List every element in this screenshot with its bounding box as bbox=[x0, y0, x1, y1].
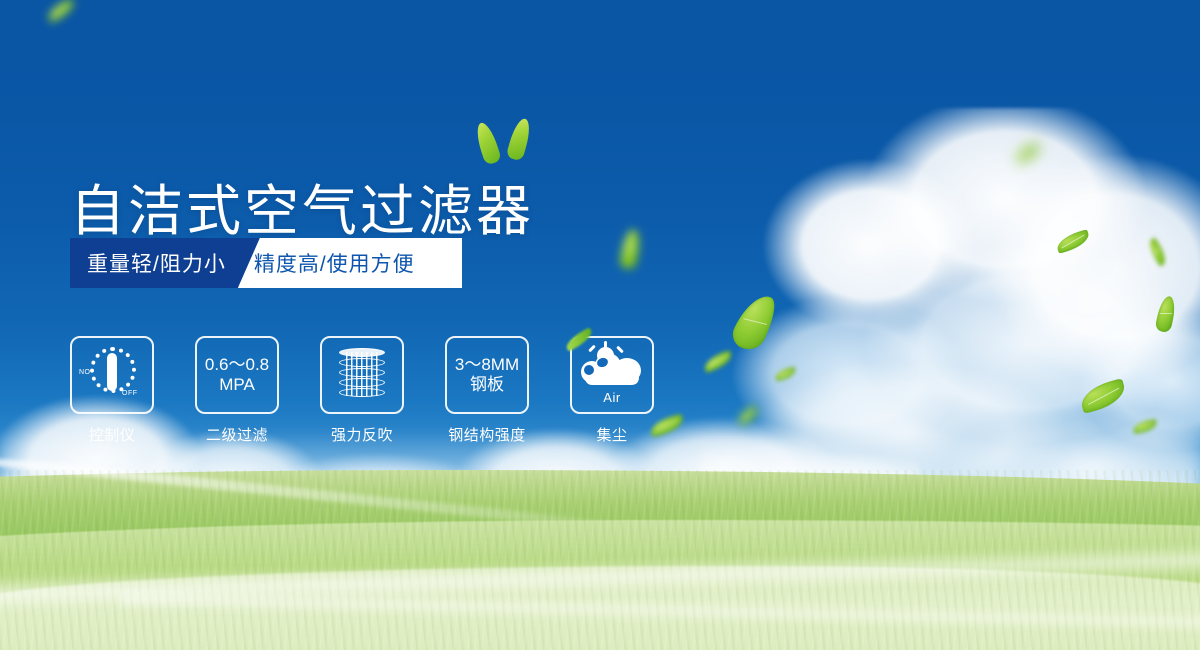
page-title: 自洁式空气过滤器 bbox=[70, 178, 534, 244]
feature-label: 强力反吹 bbox=[331, 424, 393, 445]
air-label: Air bbox=[603, 390, 620, 405]
control-dial-icon: NO OFF bbox=[80, 345, 144, 405]
dial-on-label: NO bbox=[79, 369, 91, 376]
feature-box: 0.6～0.8 MPA bbox=[195, 336, 279, 414]
cloud-air-icon bbox=[581, 345, 643, 389]
feature-box: NO OFF bbox=[70, 336, 154, 414]
hero-banner: 自洁式空气过滤器 重量轻/阻力小 精度高/使用方便 NO OFF 控制仪 0.6… bbox=[0, 0, 1200, 650]
feature-label: 钢结构强度 bbox=[448, 424, 526, 445]
cartridge-ring bbox=[339, 368, 385, 377]
sun-ray-icon bbox=[616, 346, 624, 354]
cartridge-ring bbox=[339, 378, 385, 387]
sprout-leaf-left-icon bbox=[473, 120, 502, 165]
feature-label: 集尘 bbox=[596, 424, 627, 445]
feature-label: 二级过滤 bbox=[206, 424, 268, 445]
subtitle-bar: 重量轻/阻力小 精度高/使用方便 bbox=[70, 238, 462, 288]
steel-thickness-value: 3～8MM bbox=[455, 355, 519, 375]
cartridge-ring bbox=[339, 358, 385, 367]
feature-box: Air bbox=[570, 336, 654, 414]
steel-material-value: 钢板 bbox=[470, 375, 504, 395]
dial-off-label: OFF bbox=[122, 390, 138, 397]
cartridge-ring bbox=[339, 388, 385, 397]
subtitle-left-tag: 重量轻/阻力小 bbox=[70, 238, 260, 288]
sun-ray-icon bbox=[588, 345, 596, 353]
cloud-gap bbox=[584, 365, 594, 375]
sprout-leaf-right-icon bbox=[506, 116, 534, 161]
cloud-base bbox=[585, 371, 639, 385]
feature-item-control-instrument[interactable]: NO OFF 控制仪 bbox=[70, 336, 154, 445]
pressure-unit-value: MPA bbox=[219, 375, 255, 395]
feature-item-steel-strength[interactable]: 3～8MM 钢板 钢结构强度 bbox=[445, 336, 529, 445]
filter-cartridge-icon bbox=[339, 348, 385, 402]
subtitle-right-tag: 精度高/使用方便 bbox=[238, 238, 462, 288]
dial-pointer bbox=[107, 353, 117, 391]
feature-item-dust-collection[interactable]: Air 集尘 bbox=[570, 336, 654, 445]
sprout-leaves-icon bbox=[477, 114, 537, 166]
feature-list: NO OFF 控制仪 0.6～0.8 MPA 二级过滤 bbox=[70, 336, 654, 445]
feature-item-secondary-filtration[interactable]: 0.6～0.8 MPA 二级过滤 bbox=[195, 336, 279, 445]
feature-label: 控制仪 bbox=[89, 424, 136, 445]
feature-item-strong-backblow[interactable]: 强力反吹 bbox=[320, 336, 404, 445]
pressure-range-value: 0.6～0.8 bbox=[205, 355, 269, 375]
feature-box bbox=[320, 336, 404, 414]
feature-box: 3～8MM 钢板 bbox=[445, 336, 529, 414]
